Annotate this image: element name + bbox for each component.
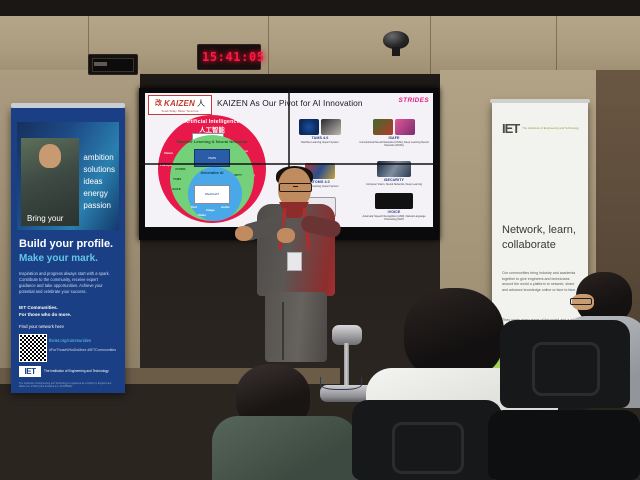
video-wall-bezel-horizontal — [139, 163, 439, 165]
keyword-ideas: ideas — [83, 176, 115, 188]
banner-left-person — [21, 138, 79, 226]
audience-left-body — [212, 416, 358, 480]
isafe-image-1 — [373, 119, 393, 135]
audience-center-head — [404, 288, 504, 380]
document-camera-head — [332, 325, 362, 345]
banner-left-keywords: ambition solutions ideas energy passion — [83, 152, 115, 212]
tams-image-1 — [299, 119, 319, 135]
product-card-isafe: iSAFE Convolutional Neural Networks (CNN… — [359, 119, 429, 147]
isafe-image-2 — [395, 119, 415, 135]
kaizen-wordmark: KAIZEN — [164, 99, 195, 108]
banner-right-rail — [490, 99, 590, 103]
ivoice-name: iVOICE — [359, 210, 429, 214]
spoke-text: Text — [191, 205, 197, 209]
tams-image-2 — [321, 119, 341, 135]
led-clock-housing: 15:41:05 — [197, 44, 261, 70]
isafe-desc: Convolutional Neural Networks (CNNs), De… — [359, 141, 429, 147]
chair-3-back — [488, 410, 640, 480]
banner-left-footnote: The Institution of Engineering and Techn… — [19, 382, 117, 389]
isecurity-name: iSECURITY — [359, 178, 429, 182]
banner-left-headline: Build your profile. — [19, 238, 113, 250]
chair-1-lumbar-support — [392, 422, 464, 474]
product-card-ivoice: iVOICE Automatic Speech Recognition (ASR… — [359, 193, 429, 221]
tams-name: TAMS 4.0 — [287, 136, 353, 140]
tams-desc: Machine Learning, Expert System — [287, 141, 353, 144]
keyword-passion: passion — [83, 200, 115, 212]
chip-imedichat-label: iMediCHAT — [195, 186, 229, 203]
ring-ml-label: Machine Learning & Neural Networks — [158, 139, 266, 144]
wall-display-panel — [88, 54, 138, 75]
spoke-isafe: iSAFE — [172, 187, 181, 191]
qr-code-icon — [19, 334, 47, 362]
presenter-hand-left — [235, 226, 253, 241]
dome-camera-mount — [392, 47, 400, 56]
photo-scene: 15:41:05 改 KAIZEN 人 Small Today, Better … — [0, 0, 640, 480]
spoke-tams: TAMS — [173, 177, 181, 181]
spoke-audio: Audio — [221, 205, 230, 209]
kaizen-logo: 改 KAIZEN 人 Small Today, Better Tomorrow — [148, 95, 212, 115]
community-line-1: IET Communities. — [19, 304, 71, 311]
banner-left-url: theiet.org/communities — [49, 338, 91, 343]
spoke-image: Image — [206, 208, 215, 212]
audience-member-left — [218, 364, 348, 480]
wall-seam-4 — [556, 16, 557, 76]
banner-left-community: IET Communities. For those who do more. — [19, 304, 71, 318]
banner-left-rail — [11, 103, 125, 108]
isafe-name: iSAFE — [359, 136, 429, 140]
banner-left-person-head — [39, 144, 61, 168]
spoke-vision: Vision — [164, 151, 173, 155]
office-chair-1[interactable] — [352, 400, 502, 480]
keyword-solutions: solutions — [83, 164, 115, 176]
iet-logo-mark: IET — [19, 366, 41, 377]
office-chair-2[interactable] — [500, 320, 630, 408]
presenter-leg-split — [282, 302, 284, 360]
wall-seam-3 — [430, 16, 431, 76]
presenter-hand-right — [277, 228, 295, 243]
presenter-badge — [287, 252, 302, 271]
kaizen-tagline: Small Today, Better Tomorrow — [161, 110, 198, 113]
isecurity-desc: Computer Vision, Neural Networks, Deep L… — [359, 183, 429, 186]
banner-right-iet-logo: IET The Institution of Engineering and T… — [502, 121, 579, 136]
audience-right-glasses-icon — [570, 298, 592, 305]
ring-gen-label: Generative AI — [158, 171, 266, 175]
banner-left-body: Inspiration and progress always start wi… — [19, 271, 115, 295]
keyword-energy: energy — [83, 188, 115, 200]
ai-concentric-diagram: Artificial Intelligence 人工智能 NAVIS Visio… — [158, 115, 266, 223]
banner-iet-build-your-profile: ambition solutions ideas energy passion … — [11, 108, 125, 393]
presenter-glasses-icon — [279, 183, 312, 192]
ivoice-image-1 — [375, 193, 413, 209]
office-chair-3[interactable] — [488, 410, 640, 480]
wall-seam-2 — [268, 16, 269, 76]
product-card-tams: TAMS 4.0 Machine Learning, Expert System — [287, 119, 353, 144]
chair-2-lumbar-support — [532, 342, 600, 396]
iet-logo-mark-right: IET — [502, 121, 519, 136]
keyword-ambition: ambition — [83, 152, 115, 164]
kaizen-figure-icon: 人 — [197, 98, 205, 109]
banner-right-headline: Network, learn, collaborate — [502, 223, 588, 253]
banner-left-photo: ambition solutions ideas energy passion … — [17, 122, 119, 230]
community-line-2: For those who do more. — [19, 311, 71, 318]
banner-left-iet-logo: IET The Institution of Engineering and T… — [19, 366, 109, 377]
chip-imedichat: iMediCHAT — [194, 185, 230, 204]
iet-logo-text-right: The Institution of Engineering and Techn… — [522, 127, 579, 131]
banner-left-subheadline: Make your mark. — [19, 253, 98, 264]
spoke-video: Video — [198, 213, 206, 217]
iet-logo-text: The Institution of Engineering and Techn… — [44, 369, 109, 373]
kaizen-cjk-glyph: 改 — [155, 98, 162, 108]
banner-left-hashtags: #ForThoseWhoDoMore #IETCommunities — [49, 348, 116, 353]
strides-brand-logo: STRIDES — [399, 97, 430, 104]
ivoice-desc: Automatic Speech Recognition (ASR), Natu… — [359, 215, 429, 221]
banner-left-overlay-text: Bring your — [27, 214, 63, 223]
banner-left-cta: Find your network here — [19, 324, 64, 329]
led-clock-time: 15:41:05 — [202, 50, 265, 64]
